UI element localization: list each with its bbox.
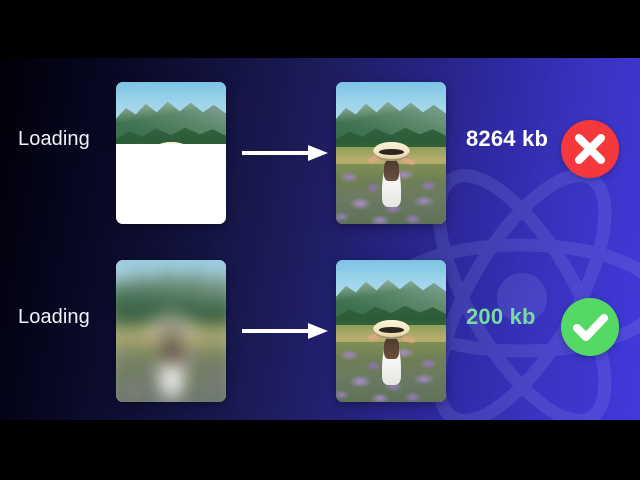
photo-figure — [378, 320, 406, 385]
photo-figure-torso — [162, 338, 181, 365]
check-circle-icon — [561, 298, 619, 356]
placeholder-image-blank — [116, 82, 226, 224]
unloaded-white-area — [116, 144, 226, 224]
arrow-shaft — [242, 151, 310, 155]
photo-figure — [155, 317, 189, 397]
arrow-right-icon — [242, 145, 330, 161]
photo-figure-torso — [384, 337, 399, 359]
cross-circle-icon — [561, 120, 619, 178]
file-size-label-unoptimized: 8264 kb — [466, 126, 548, 152]
file-size-label-optimized: 200 kb — [466, 304, 536, 330]
final-image-optimized — [336, 260, 446, 402]
arrow-right-icon — [242, 323, 330, 339]
loading-label-optimized: Loading — [18, 306, 90, 329]
arrow-head — [308, 145, 328, 161]
placeholder-image-blurred — [116, 260, 226, 402]
video-stage: Loading — [0, 0, 640, 480]
photo-full — [336, 82, 446, 224]
slide-content: Loading — [0, 58, 640, 420]
photo-blurred — [116, 260, 226, 402]
photo-figure-torso — [384, 159, 399, 181]
arrow-shaft — [242, 329, 310, 333]
photo-full — [336, 260, 446, 402]
comparison-row-optimized: Loading — [0, 244, 640, 419]
comparison-row-unoptimized: Loading — [0, 66, 640, 241]
arrow-head — [308, 323, 328, 339]
photo-figure — [378, 142, 406, 207]
loading-label-unoptimized: Loading — [18, 128, 90, 151]
final-image-unoptimized — [336, 82, 446, 224]
